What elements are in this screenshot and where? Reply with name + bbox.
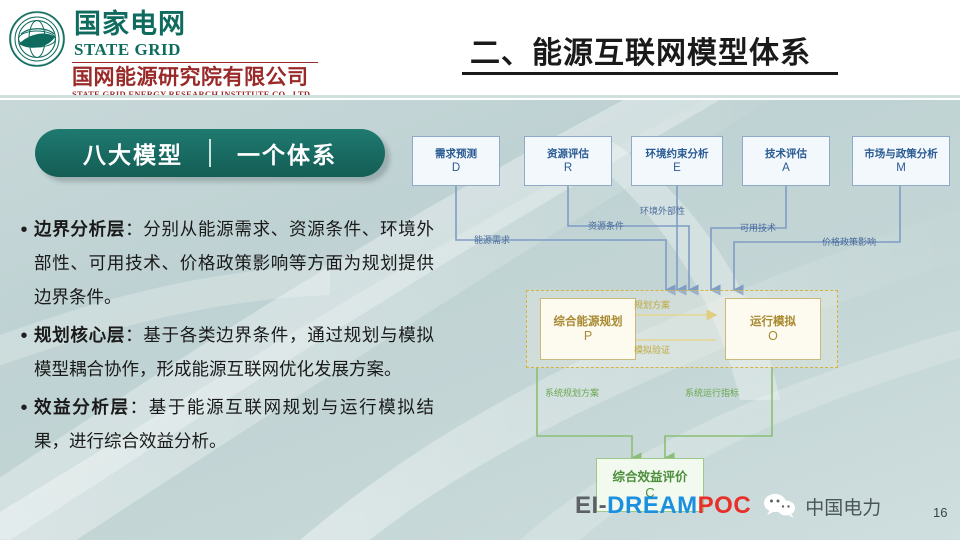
brand-mid: DREAM	[607, 492, 698, 519]
wechat-icon	[763, 493, 797, 519]
edge-label-environment-externality: 环境外部性	[640, 204, 685, 217]
state-grid-globe-icon	[8, 10, 66, 68]
diagram-box-resource-assessment[interactable]: 资源评估 R	[524, 136, 612, 186]
organization-logo-block: 国家电网 STATE GRID 国网能源研究院有限公司 STATE GRID E…	[8, 6, 318, 92]
wechat-account-name: 中国电力	[805, 493, 881, 520]
header-divider-line	[0, 95, 960, 98]
bullet-text: 边界分析层：分别从能源需求、资源条件、环境外部性、可用技术、价格政策影响等方面为…	[34, 213, 434, 315]
edge-label-resource-condition: 资源条件	[588, 219, 624, 232]
bullet-colon: ：	[130, 398, 149, 418]
box-title: 综合效益评价	[612, 469, 687, 485]
bullet-text: 规划核心层：基于各类边界条件，通过规划与模拟模型耦合协作，形成能源互联网优化发展…	[34, 319, 434, 387]
logo-divider	[72, 62, 318, 63]
banner-label-left: 八大模型	[83, 136, 183, 170]
diagram-box-integrated-energy-planning[interactable]: 综合能源规划 P	[540, 298, 636, 360]
logo-title-en: STATE GRID	[74, 40, 181, 59]
page-title-underline	[462, 72, 838, 75]
bullet-text: 效益分析层：基于能源互联网规划与运行模拟结果，进行综合效益分析。	[34, 391, 434, 459]
box-title: 技术评估	[765, 147, 807, 161]
brand-suffix: POC	[698, 492, 752, 519]
box-title: 综合能源规划	[554, 314, 623, 329]
diagram-box-technology-assessment[interactable]: 技术评估 A	[742, 136, 830, 186]
box-code: A	[782, 161, 790, 175]
edge-label-simulation-verification: 模拟验证	[634, 343, 670, 356]
box-code: M	[896, 161, 906, 175]
diagram-box-demand-forecast[interactable]: 需求预测 D	[412, 136, 500, 186]
brand-prefix: EI-	[575, 492, 607, 519]
banner-separator	[209, 139, 211, 167]
box-code: O	[768, 329, 778, 344]
edge-label-available-technology: 可用技术	[740, 221, 776, 234]
edge-label-system-planning-scheme: 系统规划方案	[545, 386, 599, 399]
bullet-colon: ：	[125, 220, 143, 240]
bullet-term: 规划核心层	[34, 326, 125, 346]
box-code: P	[584, 329, 592, 344]
page-number: 16	[933, 505, 947, 520]
bullet-term: 效益分析层	[34, 398, 130, 418]
banner-label-right: 一个体系	[237, 136, 337, 170]
slide-header: 国家电网 STATE GRID 国网能源研究院有限公司 STATE GRID E…	[0, 0, 960, 98]
bullet-term: 边界分析层	[34, 220, 125, 240]
diagram-box-operation-simulation[interactable]: 运行模拟 O	[725, 298, 821, 360]
edge-label-system-operation-index: 系统运行指标	[685, 386, 739, 399]
slide-root: 国家电网 STATE GRID 国网能源研究院有限公司 STATE GRID E…	[0, 0, 960, 540]
box-title: 需求预测	[435, 147, 477, 161]
diagram-box-environment-constraint[interactable]: 环境约束分析 E	[631, 136, 723, 186]
logo-title-cn: 国家电网	[74, 10, 186, 40]
diagram-box-market-policy[interactable]: 市场与政策分析 M	[852, 136, 950, 186]
box-title: 资源评估	[547, 147, 589, 161]
list-item: • 边界分析层：分别从能源需求、资源条件、环境外部性、可用技术、价格政策影响等方…	[14, 213, 434, 315]
model-system-diagram: 需求预测 D 资源评估 R 环境约束分析 E 技术评估 A 市场与政策分析 M …	[400, 100, 960, 520]
bullet-marker: •	[14, 391, 34, 459]
edge-label-price-policy-impact: 价格政策影响	[822, 235, 876, 248]
bullet-marker: •	[14, 213, 34, 315]
section-banner: 八大模型 一个体系	[35, 129, 385, 177]
brand-wordmark: EI-DREAMPOC	[575, 492, 751, 520]
box-title: 运行模拟	[750, 314, 796, 329]
edge-label-planning-scheme: 规划方案	[634, 298, 670, 311]
page-title: 二、能源互联网模型体系	[470, 28, 811, 72]
list-item: • 规划核心层：基于各类边界条件，通过规划与模拟模型耦合协作，形成能源互联网优化…	[14, 319, 434, 387]
edge-label-energy-demand: 能源需求	[474, 233, 510, 246]
bullet-marker: •	[14, 319, 34, 387]
bullet-colon: ：	[125, 326, 143, 346]
bullet-list: • 边界分析层：分别从能源需求、资源条件、环境外部性、可用技术、价格政策影响等方…	[14, 213, 434, 463]
box-title: 市场与政策分析	[864, 147, 938, 161]
box-code: D	[452, 161, 460, 175]
box-title: 环境约束分析	[646, 147, 709, 161]
footer-brand-block: EI-DREAMPOC 中国电力	[575, 492, 881, 520]
box-code: R	[564, 161, 572, 175]
box-code: E	[673, 161, 681, 175]
list-item: • 效益分析层：基于能源互联网规划与运行模拟结果，进行综合效益分析。	[14, 391, 434, 459]
organization-name-cn: 国网能源研究院有限公司	[72, 66, 309, 89]
